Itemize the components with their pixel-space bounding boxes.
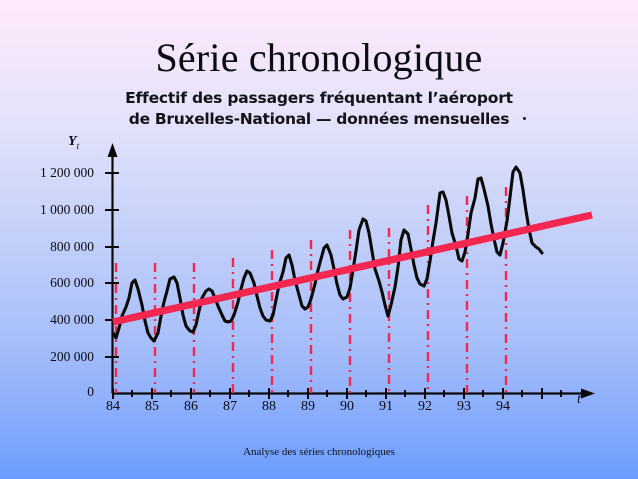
slide-footer-caption: Analyse des séries chronologiques <box>0 446 638 458</box>
x-tick-label-84: 84 <box>97 399 129 415</box>
x-tick-label-94: 94 <box>487 399 519 415</box>
x-tick-label-90: 90 <box>331 399 363 415</box>
x-tick-label-86: 86 <box>175 399 207 415</box>
x-tick-label-88: 88 <box>253 399 285 415</box>
passengers-series-line <box>113 167 542 341</box>
y-tick-label-600000: 600 000 <box>20 275 94 291</box>
trend-line <box>113 215 592 322</box>
x-tick-label-93: 93 <box>448 399 480 415</box>
slide-canvas: Série chronologique Effectif des passage… <box>0 0 638 479</box>
x-tick-label-87: 87 <box>214 399 246 415</box>
annual-marker-lines <box>116 187 506 393</box>
y-tick-label-200000: 200 000 <box>20 349 94 365</box>
y-tick-label-800000: 800 000 <box>20 239 94 255</box>
y-tick-label-1000000: 1 000 000 <box>20 202 94 218</box>
y-tick-label-0: 0 <box>20 384 94 400</box>
x-tick-label-92: 92 <box>409 399 441 415</box>
x-tick-label-91: 91 <box>370 399 402 415</box>
x-tick-label-89: 89 <box>292 399 324 415</box>
x-tick-label-85: 85 <box>136 399 168 415</box>
y-tick-label-400000: 400 000 <box>20 312 94 328</box>
y-tick-label-1200000: 1 200 000 <box>20 165 94 181</box>
